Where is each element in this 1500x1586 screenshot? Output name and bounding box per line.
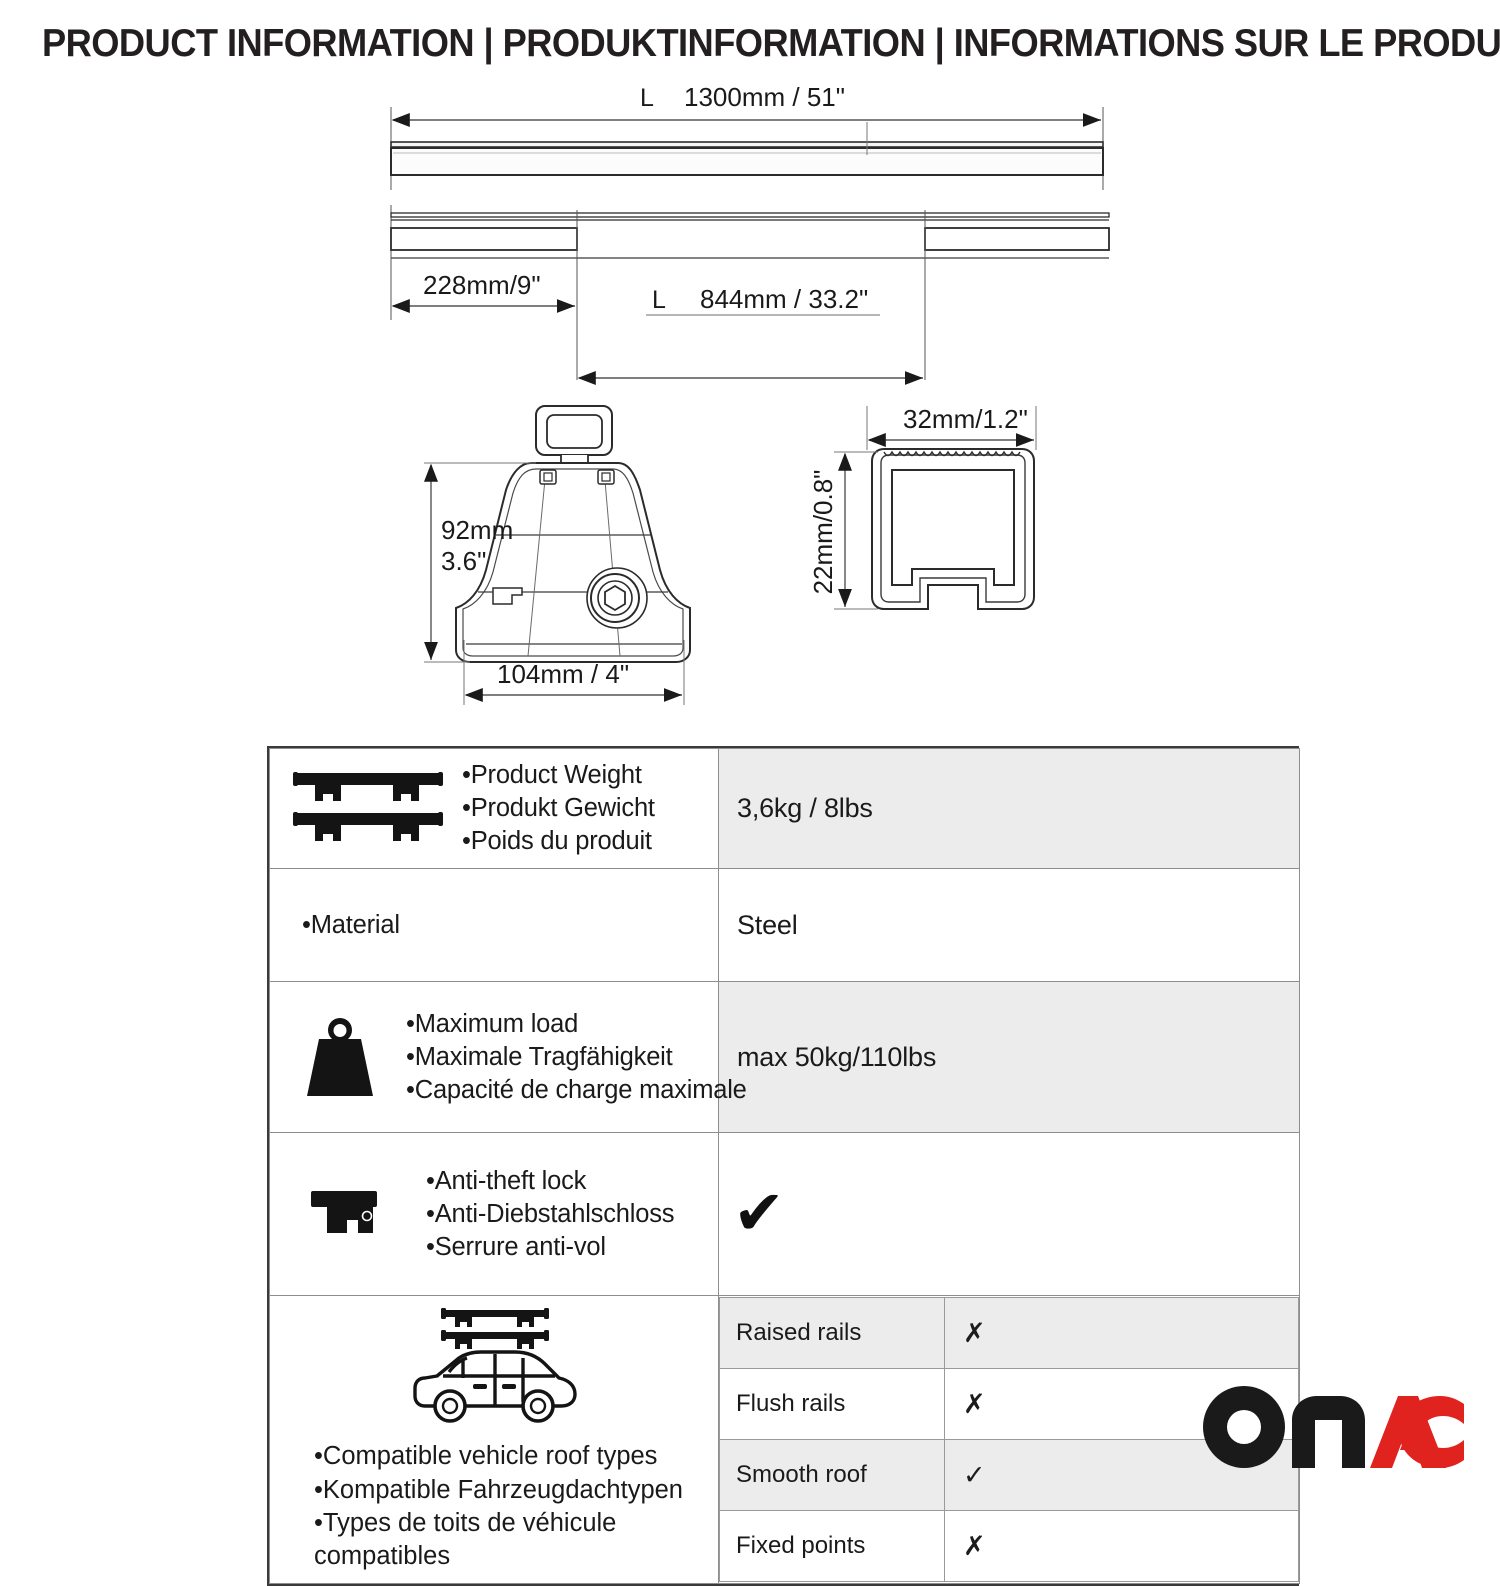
dim-bar-length-label: L <box>640 84 654 112</box>
car-with-rack-icon <box>270 1302 718 1434</box>
label-de: •Anti-Diebstahlschloss <box>426 1198 674 1231</box>
roof-type-name: Raised rails <box>720 1298 945 1369</box>
dim-foot-width-value: 104mm / 4" <box>497 659 629 689</box>
technical-drawing-area: L 1300mm / 51" 228mm/9" L 844mm / 33.2" … <box>0 80 1500 730</box>
label-en: •Product Weight <box>462 759 655 792</box>
row-material-value-cell: Steel <box>719 869 1300 982</box>
dim-profile-width-value: 32mm/1.2" <box>903 404 1028 434</box>
row-maxload-value-cell: max 50kg/110lbs <box>719 982 1300 1133</box>
dim-span-value: 844mm / 33.2" <box>700 284 868 314</box>
label-en: •Anti-theft lock <box>426 1165 674 1198</box>
label-de: •Produkt Gewicht <box>462 792 655 825</box>
max-load-value: max 50kg/110lbs <box>719 1042 1299 1073</box>
table-row-compatible-roof-types: •Compatible vehicle roof types •Kompatib… <box>270 1296 1300 1584</box>
label-fr: •Capacité de charge maximale <box>406 1074 747 1107</box>
roof-type-row: Fixed points ✗ <box>720 1511 1299 1582</box>
roof-type-mark-x-icon: ✗ <box>945 1511 1299 1582</box>
roof-type-mark-x-icon: ✗ <box>945 1298 1299 1369</box>
roof-type-row: Raised rails ✗ <box>720 1298 1299 1369</box>
dim-end-offset-value: 228mm/9" <box>423 270 541 300</box>
page-title: PRODUCT INFORMATION | PRODUKTINFORMATION… <box>42 22 1363 66</box>
product-weight-value: 3,6kg / 8lbs <box>719 793 1299 824</box>
specification-table: •Product Weight •Produkt Gewicht •Poids … <box>267 746 1299 1586</box>
table-row-max-load: •Maximum load •Maximale Tragfähigkeit •C… <box>270 982 1300 1133</box>
dim-bar-length-value: 1300mm / 51" <box>684 82 845 112</box>
table-row-anti-theft-lock: •Anti-theft lock •Anti-Diebstahlschloss … <box>270 1133 1300 1296</box>
roof-type-name: Smooth roof <box>720 1440 945 1511</box>
label-fr: •Poids du produit <box>462 825 655 858</box>
lock-icon <box>284 1185 416 1243</box>
product-info-sheet: PRODUCT INFORMATION | PRODUKTINFORMATION… <box>0 0 1500 1500</box>
table-row-material: •Material Steel <box>270 869 1300 982</box>
row-lock-value-cell: ✔ <box>719 1133 1300 1296</box>
label-en: •Compatible vehicle roof types <box>314 1440 718 1473</box>
label-en: •Maximum load <box>406 1008 747 1041</box>
omac-logo <box>1202 1384 1464 1470</box>
crossbars-icon <box>284 771 452 847</box>
weight-icon <box>284 1016 396 1098</box>
dim-foot-height-line2: 3.6" <box>441 546 486 576</box>
label-de: •Kompatible Fahrzeugdachtypen <box>314 1474 718 1507</box>
label-fr: •Serrure anti-vol <box>426 1231 674 1264</box>
label-fr-cont: compatibles <box>314 1540 718 1573</box>
row-maxload-labels: •Maximum load •Maximale Tragfähigkeit •C… <box>406 1008 747 1107</box>
label-de: •Maximale Tragfähigkeit <box>406 1041 747 1074</box>
roof-type-name: Fixed points <box>720 1511 945 1582</box>
material-value: Steel <box>719 910 1299 941</box>
row-maxload-label-cell: •Maximum load •Maximale Tragfähigkeit •C… <box>270 982 719 1133</box>
row-weight-value-cell: 3,6kg / 8lbs <box>719 749 1300 869</box>
row-compat-labels: •Compatible vehicle roof types •Kompatib… <box>270 1440 718 1573</box>
row-weight-labels: •Product Weight •Produkt Gewicht •Poids … <box>462 759 655 858</box>
row-lock-label-cell: •Anti-theft lock •Anti-Diebstahlschloss … <box>270 1133 719 1296</box>
row-lock-labels: •Anti-theft lock •Anti-Diebstahlschloss … <box>426 1165 674 1264</box>
roof-type-name: Flush rails <box>720 1369 945 1440</box>
table-row-product-weight: •Product Weight •Produkt Gewicht •Poids … <box>270 749 1300 869</box>
label-material: •Material <box>302 909 400 942</box>
row-material-label-cell: •Material <box>270 869 719 982</box>
logo-letter-m <box>1292 1396 1365 1468</box>
label-fr: •Types de toits de véhicule <box>314 1507 718 1540</box>
logo-letter-o <box>1203 1386 1285 1468</box>
row-compat-label-cell: •Compatible vehicle roof types •Kompatib… <box>270 1296 719 1584</box>
anti-theft-check-icon: ✔ <box>719 1183 1299 1245</box>
row-material-labels: •Material <box>284 909 400 942</box>
row-weight-label-cell: •Product Weight •Produkt Gewicht •Poids … <box>270 749 719 869</box>
dim-profile-height-value: 22mm/0.8" <box>808 470 838 595</box>
dim-foot-height-line1: 92mm <box>441 515 513 545</box>
dim-span-label: L <box>652 286 666 314</box>
